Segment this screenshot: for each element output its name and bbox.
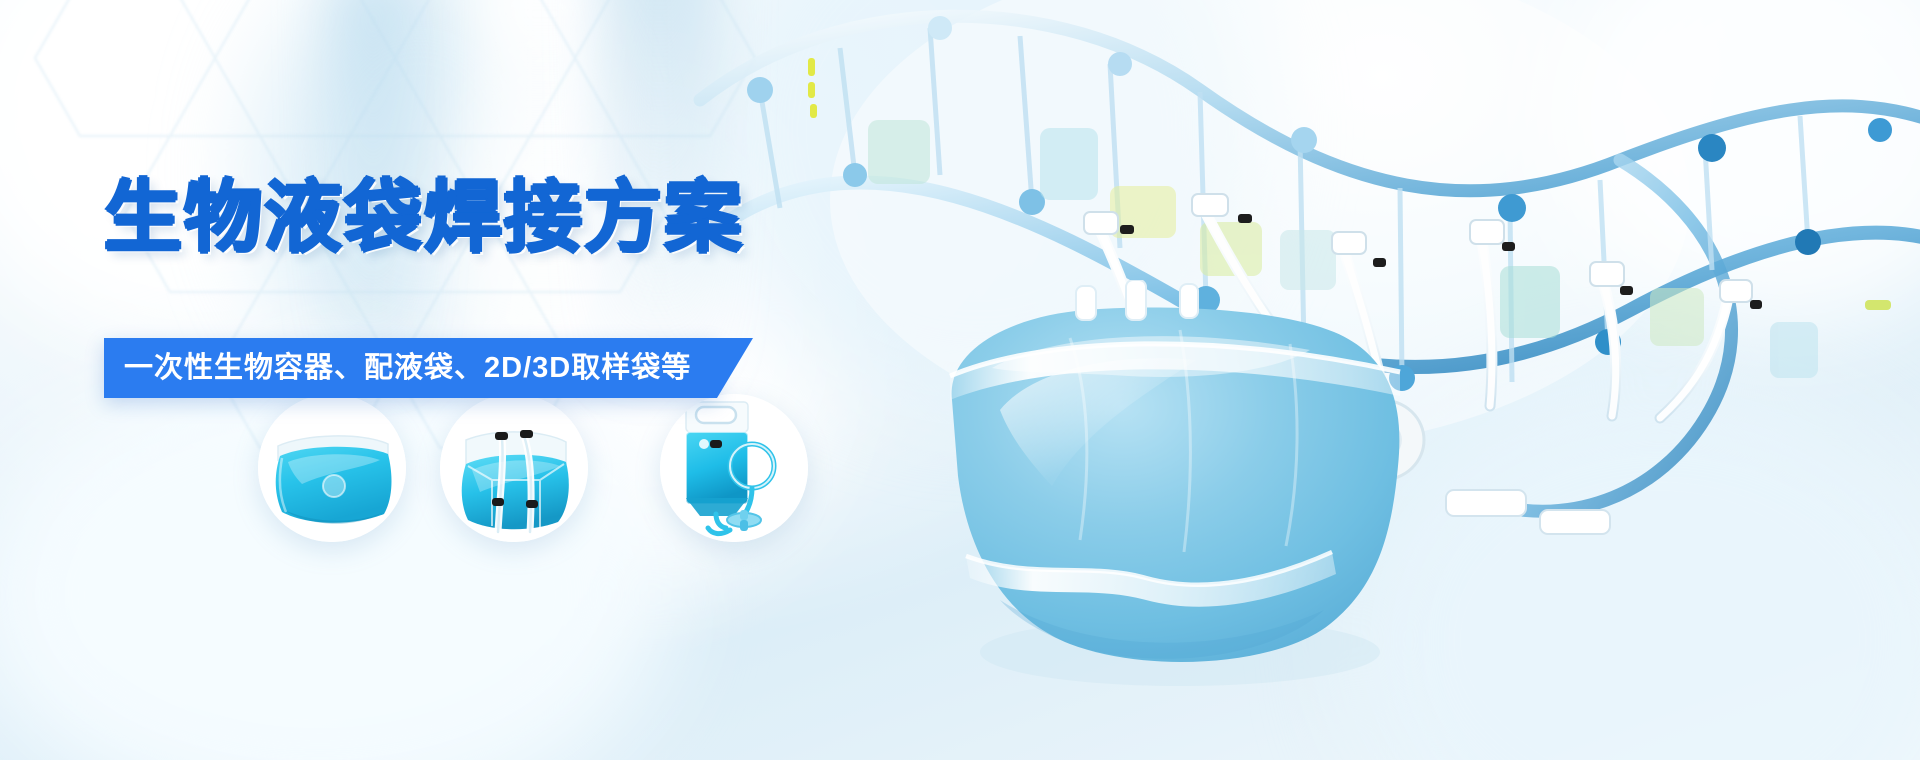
page-title: 生物液袋焊接方案: [104, 178, 744, 256]
tubing-bag-icon: [440, 394, 588, 542]
bg-blob: [1350, 380, 1920, 760]
handle-bag-icon: [660, 394, 808, 542]
bioprocess-bag-icon: [880, 280, 1440, 700]
product-circle-1[interactable]: 2D 液袋（蓝色液体方袋）: [258, 394, 406, 542]
subtitle-text: 一次性生物容器、配液袋、2D/3D取样袋等: [124, 354, 691, 383]
bg-blob: [1550, 0, 1920, 330]
product-circle-3[interactable]: 配液袋（带提手与过滤组件）: [660, 394, 808, 542]
pillow-bag-icon: [258, 394, 406, 542]
subtitle-ribbon: 一次性生物容器、配液袋、2D/3D取样袋等: [104, 338, 717, 398]
subtitle-ribbon-body: 一次性生物容器、配液袋、2D/3D取样袋等: [104, 338, 717, 398]
hero-banner: 2D 液袋（蓝色液体方袋）: [0, 0, 1920, 760]
ribbon-arrow-icon: [717, 338, 753, 398]
product-circle-2[interactable]: 3D 取样袋（带管路）: [440, 394, 588, 542]
